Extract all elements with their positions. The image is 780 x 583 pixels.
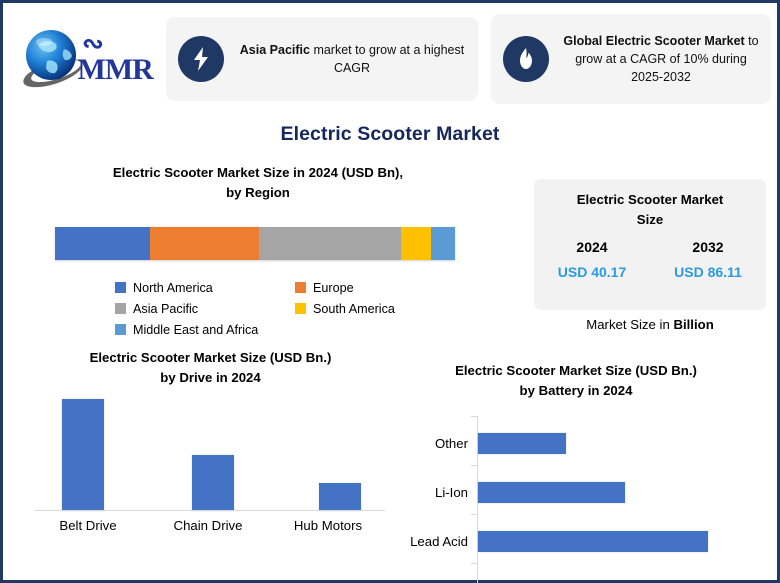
market-size-card: Electric Scooter Market Size 2024 2032 U… bbox=[534, 179, 766, 310]
drive-axis-label: Hub Motors bbox=[268, 518, 388, 533]
market-size-value-2032: USD 86.11 bbox=[650, 264, 766, 280]
battery-axis-tick bbox=[471, 514, 478, 515]
market-size-years: 2024 2032 bbox=[534, 239, 766, 255]
battery-axis-tick bbox=[471, 465, 478, 466]
callout-asia-pacific: Asia Pacific market to grow at a highest… bbox=[166, 17, 478, 101]
legend-label: Middle East and Africa bbox=[133, 323, 258, 337]
region-segment-europe bbox=[150, 227, 259, 260]
callout-2-bold: Global Electric Scooter Market bbox=[563, 34, 744, 48]
legend-swatch-icon bbox=[115, 303, 126, 314]
drive-bar-chain-drive bbox=[192, 455, 234, 511]
region-segment-south-america bbox=[401, 227, 431, 260]
region-chart-title: Electric Scooter Market Size in 2024 (US… bbox=[58, 163, 458, 203]
battery-bar-other bbox=[478, 433, 566, 454]
lightning-bolt-icon bbox=[178, 36, 224, 82]
region-segment-asia-pacific bbox=[259, 227, 401, 260]
callout-1-bold: Asia Pacific bbox=[240, 43, 310, 57]
lightning-bolt-glyph bbox=[191, 46, 211, 72]
legend-item-asia-pacific: Asia Pacific bbox=[115, 302, 295, 316]
market-size-footer-bold: Billion bbox=[673, 317, 713, 332]
legend-item-middle-east-and-africa: Middle East and Africa bbox=[115, 323, 295, 337]
page-title: Electric Scooter Market bbox=[3, 123, 777, 146]
flame-icon bbox=[503, 36, 549, 82]
legend-item-europe: Europe bbox=[295, 281, 465, 295]
legend-label: North America bbox=[133, 281, 213, 295]
battery-chart-title: Electric Scooter Market Size (USD Bn.) b… bbox=[401, 361, 751, 401]
legend-item-south-america: South America bbox=[295, 302, 465, 316]
header: ∾ MMR Asia Pacific market to grow at a h… bbox=[3, 3, 777, 113]
region-stacked-bar bbox=[55, 227, 455, 260]
legend-label: Asia Pacific bbox=[133, 302, 198, 316]
drive-chart-axis bbox=[35, 510, 385, 511]
callout-global-cagr-text: Global Electric Scooter Market to grow a… bbox=[549, 32, 771, 86]
market-size-value-2024: USD 40.17 bbox=[534, 264, 650, 280]
legend-label: Europe bbox=[313, 281, 354, 295]
market-size-values: USD 40.17 USD 86.11 bbox=[534, 264, 766, 280]
drive-bar-belt-drive bbox=[62, 399, 104, 511]
legend-swatch-icon bbox=[295, 303, 306, 314]
battery-bar-lead-acid bbox=[478, 531, 708, 552]
logo-text: MMR bbox=[78, 53, 153, 87]
region-segment-middle-east-and-africa bbox=[431, 227, 455, 260]
region-segment-north-america bbox=[55, 227, 150, 260]
callout-asia-pacific-text: Asia Pacific market to grow at a highest… bbox=[224, 41, 478, 77]
battery-axis-label: Other bbox=[398, 436, 468, 451]
battery-bar-li-ion bbox=[478, 482, 625, 503]
drive-chart-title: Electric Scooter Market Size (USD Bn.) b… bbox=[38, 348, 383, 388]
mmr-logo: ∾ MMR bbox=[13, 21, 158, 97]
battery-axis-tick bbox=[471, 563, 478, 564]
market-size-footer-plain: Market Size in bbox=[586, 317, 673, 332]
market-size-title-line1: Electric Scooter Market bbox=[534, 190, 766, 210]
legend-item-north-america: North America bbox=[115, 281, 295, 295]
drive-chart-title-line2: by Drive in 2024 bbox=[38, 368, 383, 388]
legend-swatch-icon bbox=[115, 282, 126, 293]
market-size-year-2032: 2032 bbox=[650, 239, 766, 255]
drive-chart-labels: Belt DriveChain DriveHub Motors bbox=[28, 518, 388, 533]
region-chart-title-line1: Electric Scooter Market Size in 2024 (US… bbox=[58, 163, 458, 183]
legend-label: South America bbox=[313, 302, 395, 316]
battery-axis-label: Li-Ion bbox=[398, 485, 468, 500]
callout-1-rest: market to grow at a highest CAGR bbox=[310, 43, 464, 75]
region-chart-title-line2: by Region bbox=[58, 183, 458, 203]
battery-axis-tick bbox=[471, 416, 478, 417]
region-legend: North AmericaEuropeAsia PacificSouth Ame… bbox=[115, 277, 465, 340]
legend-swatch-icon bbox=[115, 324, 126, 335]
battery-axis-label: Lead Acid bbox=[398, 534, 468, 549]
battery-chart-title-line2: by Battery in 2024 bbox=[401, 381, 751, 401]
drive-axis-label: Belt Drive bbox=[28, 518, 148, 533]
legend-swatch-icon bbox=[295, 282, 306, 293]
flame-glyph bbox=[516, 46, 536, 72]
market-size-card-title: Electric Scooter Market Size bbox=[534, 190, 766, 230]
drive-chart-title-line1: Electric Scooter Market Size (USD Bn.) bbox=[38, 348, 383, 368]
market-size-year-2024: 2024 bbox=[534, 239, 650, 255]
infographic-page: ∾ MMR Asia Pacific market to grow at a h… bbox=[0, 0, 780, 583]
callout-global-cagr: Global Electric Scooter Market to grow a… bbox=[491, 14, 771, 104]
market-size-footer: Market Size in Billion bbox=[534, 317, 766, 332]
drive-chart-plot bbox=[35, 388, 385, 511]
drive-axis-label: Chain Drive bbox=[148, 518, 268, 533]
battery-chart-title-line1: Electric Scooter Market Size (USD Bn.) bbox=[401, 361, 751, 381]
drive-bar-hub-motors bbox=[319, 483, 361, 511]
market-size-title-line2: Size bbox=[534, 210, 766, 230]
